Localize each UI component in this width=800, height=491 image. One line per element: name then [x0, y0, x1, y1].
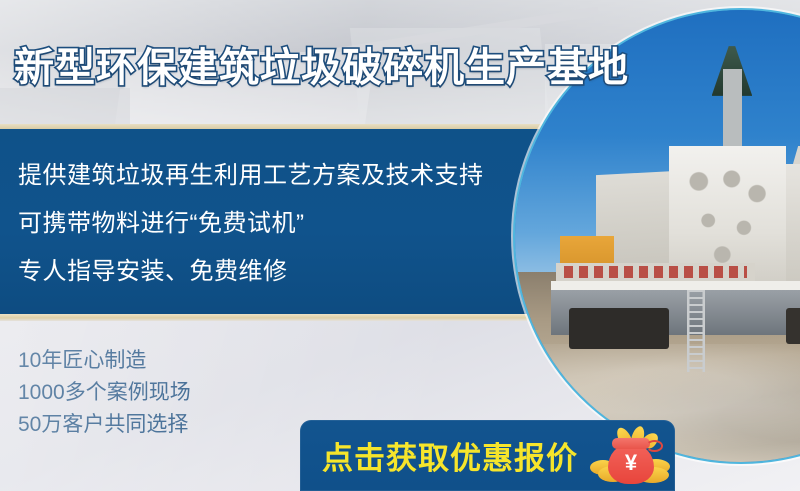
money-bag-icon: ¥: [588, 426, 674, 486]
photo-machine-ladder: [687, 290, 705, 371]
page-title: 新型环保建筑垃圾破碎机生产基地: [14, 35, 629, 93]
feature-line: 专人指导安装、免费维修: [18, 248, 484, 296]
yen-symbol: ¥: [608, 450, 654, 476]
photo-machine-shadow: [569, 308, 668, 349]
photo-machine-stack: [723, 69, 742, 150]
feature-line: 可携带物料进行“免费试机”: [18, 200, 484, 248]
stat-line: 50万客户共同选择: [18, 409, 191, 441]
get-quote-button[interactable]: 点击获取优惠报价 ¥: [300, 420, 675, 491]
bag-neck-shape: [612, 438, 650, 449]
background-shape: [0, 88, 130, 126]
photo-machine-shadow: [786, 308, 800, 344]
promo-banner: 新型环保建筑垃圾破碎机生产基地 提供建筑垃圾再生利用工艺方案及技术支持 可携带物…: [0, 0, 800, 491]
feature-list: 提供建筑垃圾再生利用工艺方案及技术支持 可携带物料进行“免费试机” 专人指导安装…: [18, 152, 484, 296]
photo-machine-signboard: [556, 263, 755, 281]
stat-line: 10年匠心制造: [18, 345, 191, 377]
feature-line: 提供建筑垃圾再生利用工艺方案及技术支持: [18, 152, 484, 200]
stat-line: 1000多个案例现场: [18, 377, 191, 409]
stats-list: 10年匠心制造 1000多个案例现场 50万客户共同选择: [18, 345, 191, 441]
get-quote-button-label: 点击获取优惠报价: [322, 433, 578, 478]
